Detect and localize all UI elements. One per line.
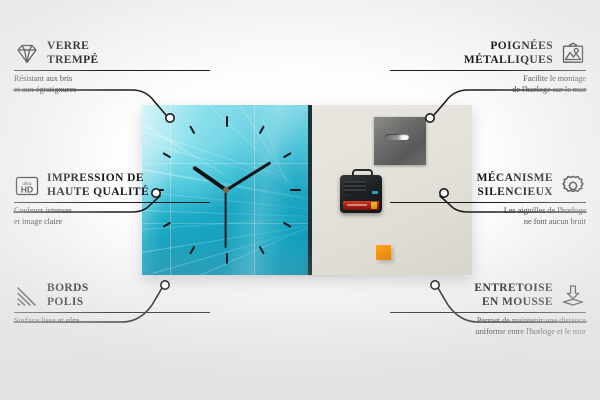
feature-description: Permet de maintenir une distance uniform… <box>390 316 586 336</box>
hour-marker <box>259 125 265 134</box>
hour-marker <box>226 116 228 127</box>
hour-marker <box>259 246 265 255</box>
diamond-icon <box>14 42 40 66</box>
feature-verre-trempe[interactable]: VERRE TREMPÉ Résistant aux bris et aux é… <box>14 40 210 95</box>
ultra-hd-icon: ultra HD <box>14 174 40 198</box>
movement-grill <box>344 181 366 193</box>
divider <box>14 312 210 313</box>
infographic-canvas: VERRE TREMPÉ Résistant aux bris et aux é… <box>0 0 600 400</box>
hour-marker <box>290 189 301 191</box>
hour-marker <box>283 222 292 228</box>
divider <box>390 70 586 71</box>
feature-header: BORDS POLIS <box>14 282 210 309</box>
feature-title: MÉCANISME SILENCIEUX <box>477 172 553 199</box>
feature-title: VERRE TREMPÉ <box>47 40 99 67</box>
hour-marker <box>189 246 195 255</box>
feature-title: ENTRETOISE EN MOUSSE <box>474 282 553 309</box>
picture-frame-icon <box>560 42 586 66</box>
feature-header: ultra HD IMPRESSION DE HAUTE QUALITÉ <box>14 172 210 199</box>
feature-header: ENTRETOISE EN MOUSSE <box>390 282 586 309</box>
second-hand <box>225 190 227 248</box>
metal-hanger-plate <box>374 117 426 165</box>
hour-marker <box>162 152 171 158</box>
divider <box>390 312 586 313</box>
feature-bords-polis[interactable]: BORDS POLIS Surface lisse et sûre <box>14 282 210 327</box>
feature-impression-haute-qualite[interactable]: ultra HD IMPRESSION DE HAUTE QUALITÉ Cou… <box>14 172 210 227</box>
foam-spacer-pad <box>376 245 391 260</box>
feature-title: POIGNÉES MÉTALLIQUES <box>464 40 553 67</box>
divider <box>14 70 210 71</box>
feature-title: IMPRESSION DE HAUTE QUALITÉ <box>47 172 149 199</box>
feature-header: MÉCANISME SILENCIEUX <box>390 172 586 199</box>
clock-movement <box>340 175 382 213</box>
movement-label <box>372 191 378 194</box>
feature-description: Couleurs intenses et image claire <box>14 206 210 226</box>
feature-mecanisme-silencieux[interactable]: MÉCANISME SILENCIEUX Les aiguilles de l'… <box>390 172 586 227</box>
hour-marker <box>283 152 292 158</box>
feature-description: Facilite le montage de l'horloge sur le … <box>390 74 586 94</box>
foam-spacer-icon <box>560 284 586 308</box>
feature-header: POIGNÉES MÉTALLIQUES <box>390 40 586 67</box>
clock-hub <box>223 187 229 193</box>
minute-hand <box>225 161 271 191</box>
feature-header: VERRE TREMPÉ <box>14 40 210 67</box>
hour-marker <box>226 253 228 264</box>
feature-description: Les aiguilles de l'horloge ne font aucun… <box>390 206 586 226</box>
feature-description: Résistant aux bris et aux égratignures <box>14 74 210 94</box>
feature-poignees-metalliques[interactable]: POIGNÉES MÉTALLIQUES Facilite le montage… <box>390 40 586 95</box>
polished-edges-icon <box>14 284 40 308</box>
battery <box>343 201 379 210</box>
divider <box>390 202 586 203</box>
feature-entretoise-en-mousse[interactable]: ENTRETOISE EN MOUSSE Permet de maintenir… <box>390 282 586 337</box>
feature-title: BORDS POLIS <box>47 282 89 309</box>
svg-text:HD: HD <box>21 184 33 194</box>
movement-hanger-tab <box>352 169 373 179</box>
feature-description: Surface lisse et sûre <box>14 316 210 326</box>
gear-icon <box>560 174 586 198</box>
hour-marker <box>189 125 195 134</box>
divider <box>14 202 210 203</box>
